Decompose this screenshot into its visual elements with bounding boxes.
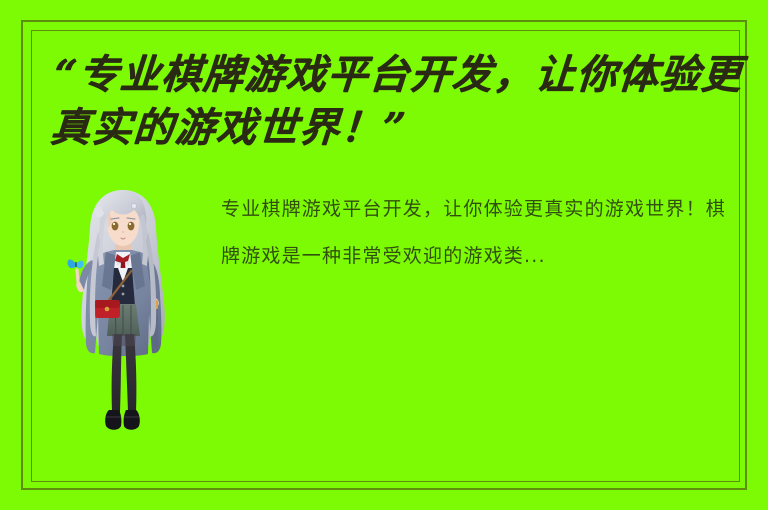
vest-button-2 [122,293,125,296]
bag-clasp [105,307,110,312]
finger-pointing [77,270,78,282]
eye-right-highlight [129,223,131,225]
butterfly [68,260,84,269]
thigh-shadow [112,334,136,346]
hair-clip [131,203,136,208]
eye-left-highlight [113,223,115,225]
body-paragraph: 专业棋牌游戏平台开发，让你体验更真实的游戏世界！棋牌游戏是一种非常受欢迎的游戏类… [221,186,733,280]
headline-title: “专业棋牌游戏平台开发，让你体验更真实的游戏世界！” [48,48,745,154]
shoe-right [124,410,140,430]
shoe-left [105,410,121,430]
anime-girl-illustration [62,186,184,466]
promo-banner: “专业棋牌游戏平台开发，让你体验更真实的游戏世界！” 专业棋牌游戏平台开发，让你… [0,0,768,510]
eye-right [128,222,135,231]
vest-button-1 [122,285,125,288]
eye-left [112,222,119,231]
